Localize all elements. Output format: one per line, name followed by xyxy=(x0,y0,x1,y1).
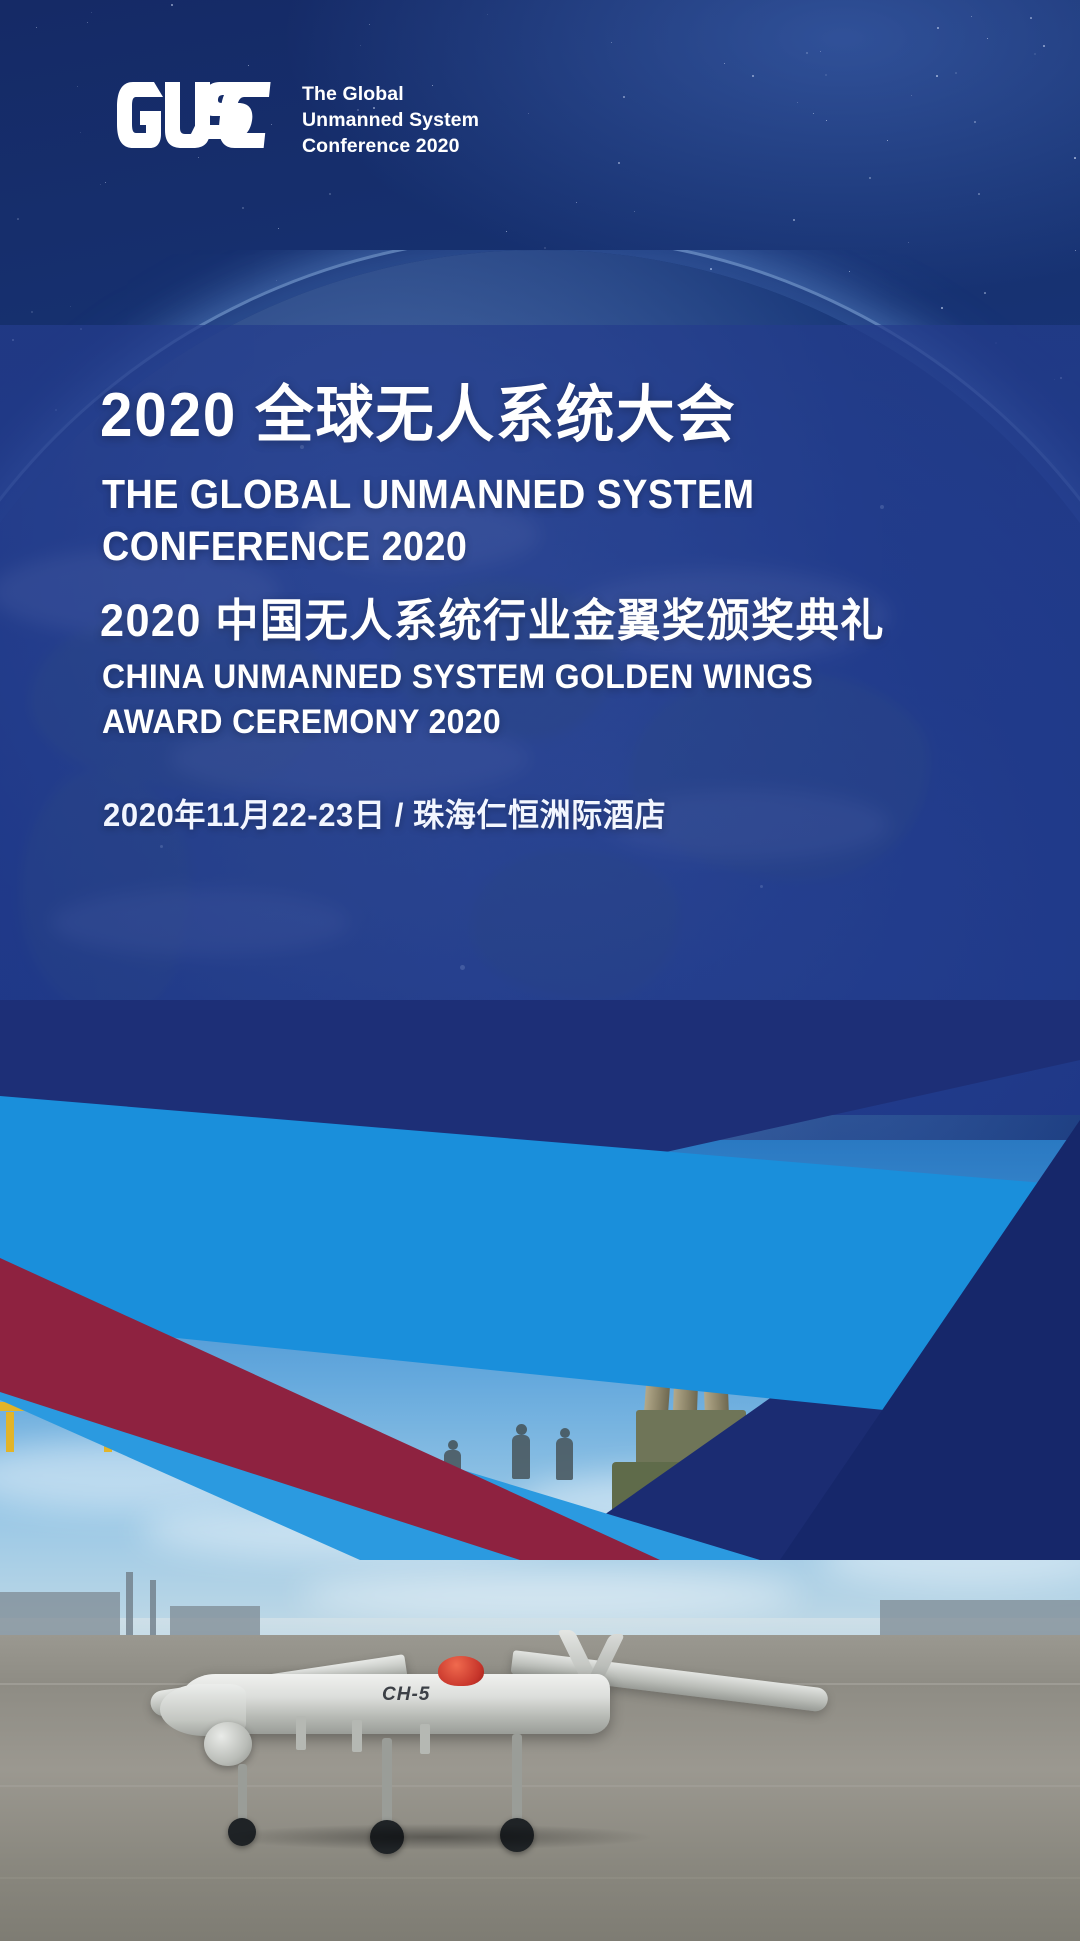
poster-content: The Global Unmanned System Conference 20… xyxy=(0,0,1080,1941)
conference-poster: CH-5 xyxy=(0,0,1080,1941)
gusc-logo-tagline: The Global Unmanned System Conference 20… xyxy=(302,78,479,159)
gusc-logo-mark xyxy=(115,78,280,150)
page-title-en: THE GLOBAL UNMANNED SYSTEM CONFERENCE 20… xyxy=(102,468,801,573)
gusc-logo: The Global Unmanned System Conference 20… xyxy=(115,78,479,159)
page-subtitle-cn: 2020 中国无人系统行业金翼奖颁奖典礼 xyxy=(100,598,885,643)
page-title-cn: 2020 全球无人系统大会 xyxy=(100,385,737,447)
event-date-venue: 2020年11月22-23日 / 珠海仁恒洲际酒店 xyxy=(103,790,666,836)
page-subtitle-en: CHINA UNMANNED SYSTEM GOLDEN WINGS AWARD… xyxy=(102,655,845,745)
